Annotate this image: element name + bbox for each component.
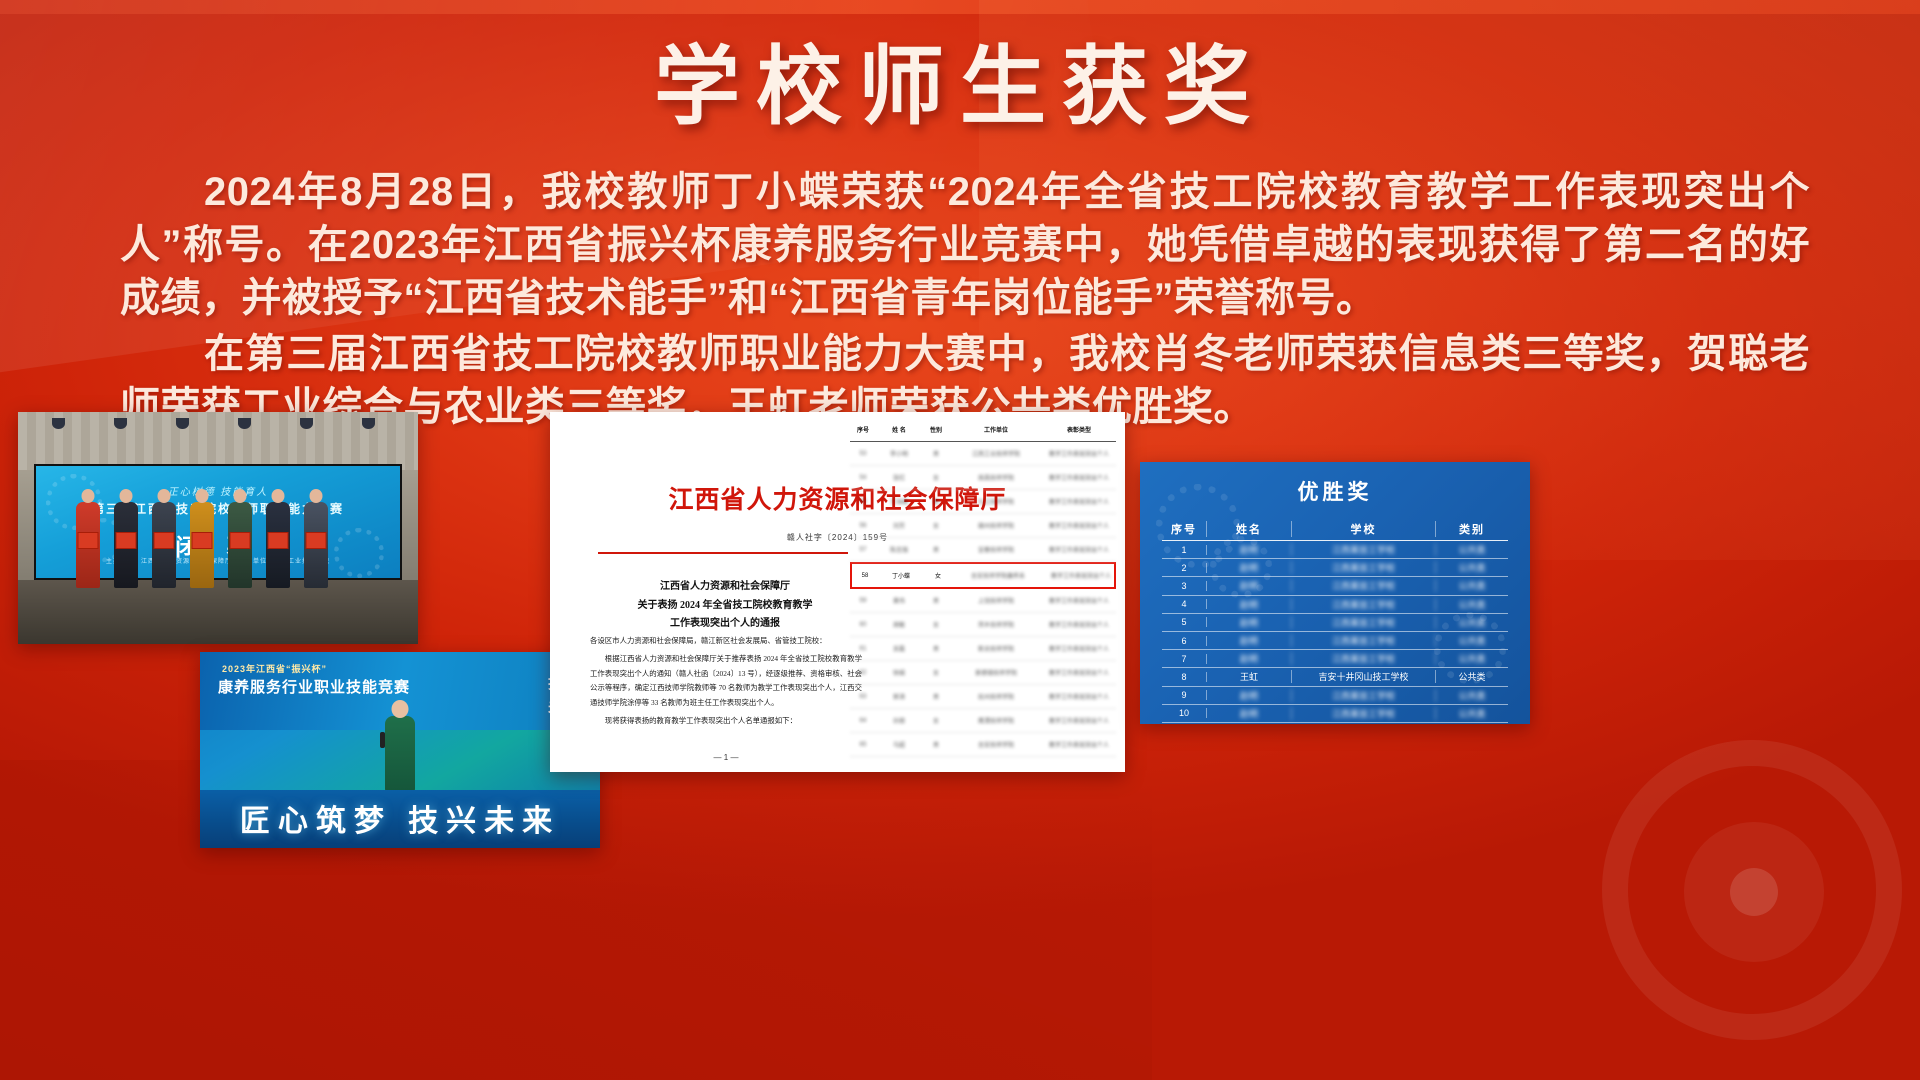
paragraph-1: 2024年8月28日，我校教师丁小蝶荣获“2024年全省技工院校教育教学工作表现… xyxy=(120,166,1810,326)
table-header-award: 表彰类型 xyxy=(1042,425,1116,434)
award-cell-no: 2 xyxy=(1162,563,1207,573)
speaker-figure xyxy=(385,716,415,792)
award-table-row: 7赵明江西某技工学校公共类 xyxy=(1162,650,1508,668)
award-panel-background: 优胜奖 序号 姓名 学校 类别 1赵明江西某技工学校公共类2赵明江西某技工学校公… xyxy=(1140,462,1530,724)
award-cell-no: 1 xyxy=(1162,545,1207,555)
award-cell-category: 公共类 xyxy=(1436,670,1508,683)
poster-canvas: 学校师生获奖 2024年8月28日，我校教师丁小蝶荣获“2024年全省技工院校教… xyxy=(0,0,1920,1080)
award-cell-school: 江西某技工学校 xyxy=(1292,652,1436,665)
award-cell-no: 5 xyxy=(1162,617,1207,627)
table-header-row: 序号 姓 名 性别 工作单位 表彰类型 xyxy=(850,418,1116,442)
award-cell-name: 赵明 xyxy=(1207,616,1292,629)
photo-ceremony: 正心树德 技能育人 第三届江西省技工院校教师职业能力大赛 闭 幕 主办单位：江西… xyxy=(18,412,418,644)
article-body: 2024年8月28日，我校教师丁小蝶荣获“2024年全省技工院校教育教学工作表现… xyxy=(120,166,1810,436)
award-cell-name: 赵明 xyxy=(1207,543,1292,556)
award-cell-category: 公共类 xyxy=(1436,689,1508,702)
table-row: 60周敏女萍乡技师学院教学工作表现突出个人 xyxy=(850,613,1116,637)
award-table-row: 1赵明江西某技工学校公共类 xyxy=(1162,541,1508,559)
table-header-name: 姓 名 xyxy=(876,425,922,434)
award-cell-no: 10 xyxy=(1162,708,1207,718)
award-table-header: 序号 姓名 学校 类别 xyxy=(1162,518,1508,541)
photo-competition-stage: 2023年江西省“振兴杯” 康养服务行业职业技能竞赛 技兴 未来 匠心筑梦 技兴… xyxy=(200,652,600,848)
document-body-line-2: 根据江西省人力资源和社会保障厅关于推荐表扬 2024 年全省技工院校教育教学工作… xyxy=(590,652,862,711)
award-header-category: 类别 xyxy=(1436,521,1508,537)
table-row: 56刘芳女赣州技师学院教学工作表现突出个人 xyxy=(850,514,1116,538)
award-cell-school: 江西某技工学校 xyxy=(1292,561,1436,574)
hl-no: 58 xyxy=(852,573,878,579)
award-table-row: 4赵明江西某技工学校公共类 xyxy=(1162,596,1508,614)
award-cell-school: 江西某技工学校 xyxy=(1292,634,1436,647)
hl-name: 丁小蝶 xyxy=(878,571,924,580)
award-cell-school: 吉安十井冈山技工学校 xyxy=(1292,670,1436,683)
award-cell-name: 王虹 xyxy=(1207,670,1292,683)
table-row: 61吴磊男新余技师学院教学工作表现突出个人 xyxy=(850,637,1116,661)
award-cell-name: 赵明 xyxy=(1207,598,1292,611)
table-row-highlighted: 58 丁小蝶 女 吉安技师学院康养系 教学工作表现突出个人 xyxy=(850,562,1116,589)
award-cell-no: 3 xyxy=(1162,581,1207,591)
document-page: 江西省人力资源和社会保障厅 赣人社字〔2024〕159号 江西省人力资源和社会保… xyxy=(550,412,1125,772)
hall-ceiling xyxy=(18,412,418,470)
award-cell-school: 江西某技工学校 xyxy=(1292,616,1436,629)
photo-award-panel: 优胜奖 序号 姓名 学校 类别 1赵明江西某技工学校公共类2赵明江西某技工学校公… xyxy=(1140,462,1530,724)
hl-unit: 吉安技师学院康养系 xyxy=(952,571,1044,580)
banner-line-2: 康养服务行业职业技能竞赛 xyxy=(218,676,410,697)
award-cell-category: 公共类 xyxy=(1436,634,1508,647)
award-cell-no: 9 xyxy=(1162,690,1207,700)
award-cell-no: 8 xyxy=(1162,672,1207,682)
award-table-row: 9赵明江西某技工学校公共类 xyxy=(1162,687,1508,705)
award-table: 序号 姓名 学校 类别 1赵明江西某技工学校公共类2赵明江西某技工学校公共类3赵… xyxy=(1162,518,1508,714)
document-page-marker: — 1 — xyxy=(590,753,862,762)
award-cell-school: 江西某技工学校 xyxy=(1292,598,1436,611)
award-table-row: 2赵明江西某技工学校公共类 xyxy=(1162,559,1508,577)
award-cell-name: 赵明 xyxy=(1207,689,1292,702)
award-header-name: 姓名 xyxy=(1207,521,1292,537)
award-header-no: 序号 xyxy=(1162,521,1207,537)
stage-slogan: 匠心筑梦 技兴未来 xyxy=(200,796,600,840)
document-title-line-1: 江西省人力资源和社会保障厅 xyxy=(590,578,860,597)
table-row: 54张红女南昌技师学院教学工作表现突出个人 xyxy=(850,466,1116,490)
award-cell-name: 赵明 xyxy=(1207,707,1292,720)
award-header-school: 学校 xyxy=(1292,521,1436,537)
document-title-line-2: 关于表扬 2024 年全省技工院校教育教学 xyxy=(590,597,860,616)
hl-gender: 女 xyxy=(924,571,952,580)
award-cell-name: 赵明 xyxy=(1207,579,1292,592)
table-row: 55王海峰男九江技师学院教学工作表现突出个人 xyxy=(850,490,1116,514)
stage-floor xyxy=(18,580,418,644)
award-cell-school: 江西某技工学校 xyxy=(1292,543,1436,556)
award-cell-school: 江西某技工学校 xyxy=(1292,707,1436,720)
top-accent-bar xyxy=(0,0,1920,14)
document-title-line-3: 工作表现突出个人的通报 xyxy=(590,615,860,634)
photo-official-document: 江西省人力资源和社会保障厅 赣人社字〔2024〕159号 江西省人力资源和社会保… xyxy=(550,412,1125,772)
document-body-line-3: 现将获得表扬的教育教学工作表现突出个人名单通报如下： xyxy=(590,714,862,729)
table-row: 53李小明男江西工业技师学院教学工作表现突出个人 xyxy=(850,442,1116,466)
award-cell-school: 江西某技工学校 xyxy=(1292,579,1436,592)
award-cell-category: 公共类 xyxy=(1436,579,1508,592)
award-table-row: 10赵明江西某技工学校公共类 xyxy=(1162,705,1508,723)
table-row: 65马超男吉安技师学院教学工作表现突出个人 xyxy=(850,733,1116,757)
table-header-no: 序号 xyxy=(850,425,876,434)
document-title: 江西省人力资源和社会保障厅 关于表扬 2024 年全省技工院校教育教学 工作表现… xyxy=(590,578,860,634)
document-body-line-1: 各设区市人力资源和社会保障局，赣江新区社会发展局、省管技工院校： xyxy=(590,634,862,649)
award-cell-name: 赵明 xyxy=(1207,652,1292,665)
award-cell-category: 公共类 xyxy=(1436,543,1508,556)
award-cell-category: 公共类 xyxy=(1436,616,1508,629)
award-cell-name: 赵明 xyxy=(1207,561,1292,574)
table-row: 59黄伟男上饶技师学院教学工作表现突出个人 xyxy=(850,589,1116,613)
award-panel-title: 优胜奖 xyxy=(1140,476,1530,506)
document-red-rule xyxy=(598,552,848,554)
decorative-ring-dot xyxy=(1730,868,1778,916)
table-row: 62徐娟女景德镇技师学院教学工作表现突出个人 xyxy=(850,661,1116,685)
award-cell-no: 6 xyxy=(1162,636,1207,646)
award-table-row: 6赵明江西某技工学校公共类 xyxy=(1162,632,1508,650)
table-row: 57陈志强男宜春技师学院教学工作表现突出个人 xyxy=(850,538,1116,562)
award-cell-no: 7 xyxy=(1162,654,1207,664)
award-cell-category: 公共类 xyxy=(1436,598,1508,611)
table-header-gender: 性别 xyxy=(922,425,950,434)
table-row: 64孙丽女鹰潭技师学院教学工作表现突出个人 xyxy=(850,709,1116,733)
award-cell-name: 赵明 xyxy=(1207,634,1292,647)
banner-line-1: 2023年江西省“振兴杯” xyxy=(222,662,327,675)
hl-award: 教学工作表现突出个人 xyxy=(1044,571,1118,580)
award-table-row: 8王虹吉安十井冈山技工学校公共类 xyxy=(1162,668,1508,686)
table-row: 63郭涛男抚州技师学院教学工作表现突出个人 xyxy=(850,685,1116,709)
award-table-row: 5赵明江西某技工学校公共类 xyxy=(1162,614,1508,632)
award-cell-category: 公共类 xyxy=(1436,652,1508,665)
award-table-row: 3赵明江西某技工学校公共类 xyxy=(1162,577,1508,595)
document-name-table: 序号 姓 名 性别 工作单位 表彰类型 53李小明男江西工业技师学院教学工作表现… xyxy=(850,418,1116,766)
award-cell-category: 公共类 xyxy=(1436,561,1508,574)
table-header-unit: 工作单位 xyxy=(950,425,1042,434)
document-body: 各设区市人力资源和社会保障局，赣江新区社会发展局、省管技工院校： 根据江西省人力… xyxy=(590,634,862,729)
page-title: 学校师生获奖 xyxy=(0,42,1920,132)
award-cell-no: 4 xyxy=(1162,599,1207,609)
award-cell-school: 江西某技工学校 xyxy=(1292,689,1436,702)
award-cell-category: 公共类 xyxy=(1436,707,1508,720)
